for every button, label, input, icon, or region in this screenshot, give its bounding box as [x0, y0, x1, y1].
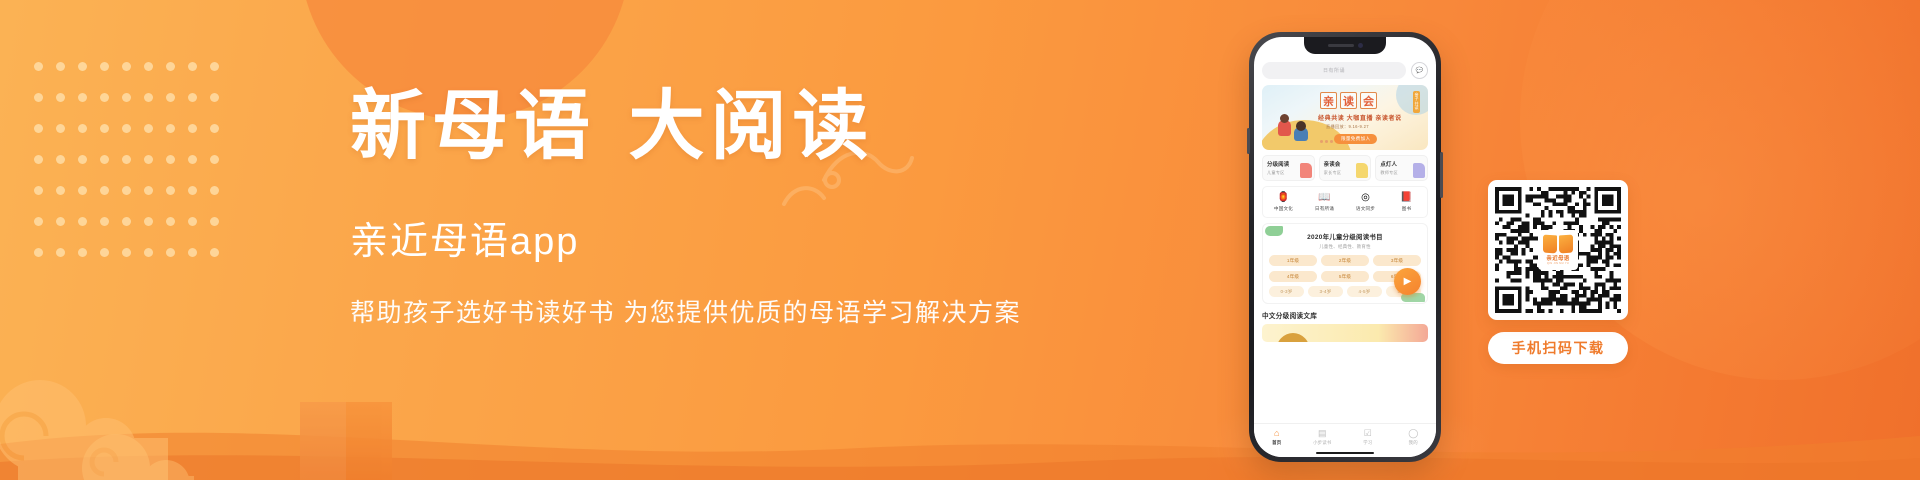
banner-tagline: 帮助孩子选好书读好书 为您提供优质的母语学习解决方案	[350, 293, 1010, 329]
phone-notch	[1304, 37, 1386, 54]
grade-pill[interactable]: 2年级	[1321, 255, 1369, 266]
home-indicator	[1316, 452, 1374, 455]
cloud-decoration-mid	[70, 414, 220, 480]
booklist-card: 2020年儿童分级阅读书目 儿童性、经典性、教育性 1年级 2年级 3年级 4年…	[1262, 223, 1428, 304]
age-pill[interactable]: 4-5岁	[1347, 286, 1382, 297]
study-icon: ☑	[1345, 429, 1391, 438]
banner-copy: 新母语 大阅读 亲近母语app 帮助孩子选好书读好书 为您提供优质的母语学习解决…	[350, 88, 1010, 329]
grade-pill[interactable]: 5年级	[1321, 271, 1369, 282]
quick-nav-label: 中国文化	[1263, 206, 1304, 212]
category-card-graded-reading[interactable]: 分级阅读 儿童专区	[1262, 155, 1315, 181]
phone-frame: 日有所诵 💬 亲 读 会	[1249, 32, 1441, 462]
tab-label: 首页	[1254, 440, 1300, 446]
hero-side-tag: 亲子共读	[1413, 91, 1420, 113]
app-name-subtitle: 亲近母语app	[350, 210, 1010, 265]
quick-nav-label: 图书	[1386, 206, 1427, 212]
daily-recite-icon: 📖	[1304, 193, 1345, 203]
quick-nav-books[interactable]: 📕 图书	[1386, 193, 1427, 212]
tab-label: 我的	[1391, 440, 1437, 446]
home-icon: ⌂	[1254, 429, 1300, 438]
booklist-title: 2020年儿童分级阅读书目	[1269, 232, 1421, 241]
booklist-subtitle: 儿童性、经典性、教育性	[1269, 244, 1421, 250]
phone-screen: 日有所诵 💬 亲 读 会	[1254, 37, 1436, 457]
book-logo-icon	[1543, 235, 1573, 253]
profile-icon: ◯	[1391, 429, 1437, 438]
tab-study[interactable]: ☑ 学习	[1345, 429, 1391, 446]
app-tab-bar: ⌂ 首页 ▤ 小步读书 ☑ 学习 ◯ 我的	[1254, 423, 1436, 457]
qr-center-logo: 亲近母语 QIN JIN MU YU	[1538, 230, 1578, 270]
hero-char-1: 亲	[1320, 92, 1337, 109]
hero-subtitle: 经典共读 大咖直播 亲读者说	[1318, 113, 1402, 122]
category-card-parent-club[interactable]: 亲读会 家长专区	[1319, 155, 1372, 181]
grade-pill[interactable]: 1年级	[1269, 255, 1317, 266]
chinese-culture-icon: 🏮	[1263, 193, 1304, 203]
books-icon: 📕	[1386, 193, 1427, 203]
category-card-teacher[interactable]: 点灯人 教师专区	[1375, 155, 1428, 181]
textbook-sync-icon: ◎	[1345, 193, 1386, 203]
video-play-icon[interactable]: ▶	[1394, 268, 1421, 295]
hero-sun-decoration	[1396, 85, 1428, 115]
tab-label: 小步读书	[1300, 440, 1346, 446]
category-card-row: 分级阅读 儿童专区 亲读会 家长专区 点灯人 教师专区	[1262, 155, 1428, 181]
qr-logo-pinyin: QIN JIN MU YU	[1547, 262, 1569, 265]
promo-banner: 新母语 大阅读 亲近母语app 帮助孩子选好书读好书 为您提供优质的母语学习解决…	[0, 0, 1920, 480]
bookmark-icon	[1413, 163, 1425, 178]
grade-pill[interactable]: 4年级	[1269, 271, 1317, 282]
hero-carousel-dots[interactable]	[1320, 140, 1333, 143]
hero-join-button[interactable]: 限量免费加入	[1334, 134, 1377, 144]
qr-download-block: 亲近母语 QIN JIN MU YU 手机扫码下载	[1488, 180, 1646, 364]
quick-nav-row: 🏮 中国文化 📖 日有所诵 ◎ 语文同步 📕	[1262, 186, 1428, 218]
tab-reading[interactable]: ▤ 小步读书	[1300, 429, 1346, 446]
grade-pill[interactable]: 3年级	[1373, 255, 1421, 266]
quick-nav-chinese-culture[interactable]: 🏮 中国文化	[1263, 193, 1304, 212]
tab-home[interactable]: ⌂ 首页	[1254, 429, 1300, 446]
quick-nav-daily-recite[interactable]: 📖 日有所诵	[1304, 193, 1345, 212]
qr-code-card[interactable]: 亲近母语 QIN JIN MU YU	[1488, 180, 1628, 320]
phone-mockup: 日有所诵 💬 亲 读 会	[1237, 32, 1453, 480]
speaker-grille	[1328, 44, 1354, 47]
cube-decoration	[300, 402, 392, 480]
search-placeholder: 日有所诵	[1323, 67, 1345, 74]
library-section-title: 中文分级阅读文库	[1262, 310, 1428, 320]
grade-row-1: 1年级 2年级 3年级	[1269, 255, 1421, 266]
hill-decoration	[0, 370, 1920, 480]
quick-nav-textbook-sync[interactable]: ◎ 语文同步	[1345, 193, 1386, 212]
page-title: 新母语 大阅读	[350, 88, 1010, 164]
dot-grid-decoration	[34, 62, 232, 279]
tab-profile[interactable]: ◯ 我的	[1391, 429, 1437, 446]
leaf-decoration-top	[1265, 226, 1283, 236]
quick-nav-label: 语文同步	[1345, 206, 1386, 212]
app-hero-banner[interactable]: 亲 读 会 亲子共读 经典共读 大咖直播 亲读者说 直播回放：9.16-9.27…	[1262, 85, 1428, 150]
front-camera-icon	[1358, 43, 1363, 48]
bookmark-icon	[1300, 163, 1312, 178]
download-button[interactable]: 手机扫码下载	[1488, 332, 1628, 364]
message-icon[interactable]: 💬	[1411, 62, 1428, 79]
quick-nav-label: 日有所诵	[1304, 206, 1345, 212]
hero-char-2: 读	[1340, 92, 1357, 109]
reading-icon: ▤	[1300, 429, 1346, 438]
bookmark-icon	[1356, 163, 1368, 178]
age-pill[interactable]: 3-4岁	[1308, 286, 1343, 297]
hero-child-illustration-2	[1294, 127, 1308, 141]
hero-date: 直播回放：9.16-9.27	[1326, 124, 1369, 130]
library-banner-card[interactable]	[1262, 324, 1428, 342]
hero-child-illustration-1	[1278, 120, 1291, 136]
qr-logo-name: 亲近母语	[1546, 254, 1569, 262]
hero-title-chars: 亲 读 会	[1320, 92, 1377, 109]
hero-char-3: 会	[1360, 92, 1377, 109]
tab-label: 学习	[1345, 440, 1391, 446]
age-pill[interactable]: 0-3岁	[1269, 286, 1304, 297]
app-search-row: 日有所诵 💬	[1262, 62, 1428, 79]
search-input[interactable]: 日有所诵	[1262, 62, 1406, 79]
